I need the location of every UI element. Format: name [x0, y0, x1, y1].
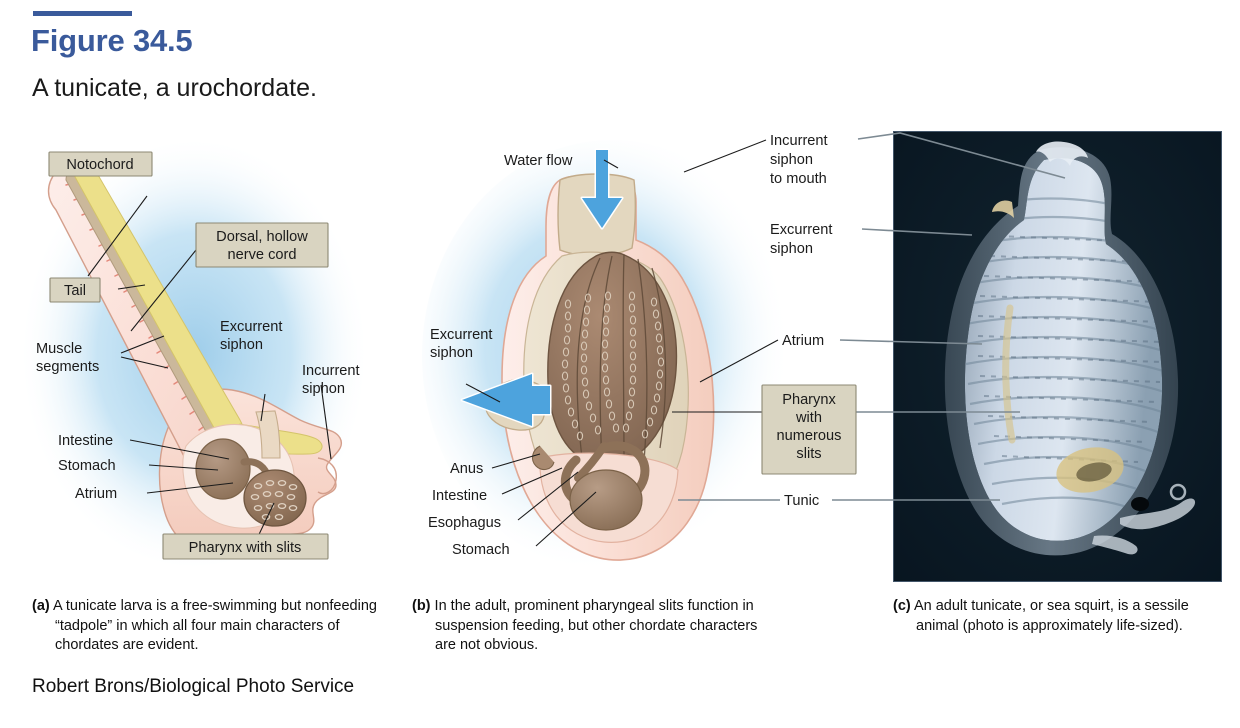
label-excurrent-siphon-b-line2: siphon [430, 345, 473, 361]
stomach-organ [570, 470, 642, 530]
caption-a: (a) A tunicate larva is a free-swimming … [32, 597, 387, 656]
figure-number: Figure 34.5 [31, 23, 192, 59]
label-excurrent-siphon-a-line1: Excurrent [220, 319, 282, 335]
label-nerve-cord-line2: nerve cord [228, 247, 297, 263]
label-box-notochord[interactable]: Notochord [49, 152, 152, 176]
caption-c: (c) An adult tunicate, or sea squirt, is… [893, 597, 1223, 636]
caption-c-key: (c) [893, 598, 911, 614]
label-pharynx-slits-text: Pharynx with slits [189, 540, 302, 556]
label-box-tail[interactable]: Tail [50, 278, 100, 302]
caption-b-key: (b) [412, 598, 431, 614]
caption-c-text: An adult tunicate, or sea squirt, is a s… [914, 598, 1189, 634]
panel-a-larva-diagram: Notochord Dorsal, hollow nerve cord Tail… [18, 128, 408, 580]
label-muscle-segments-line2: segments [36, 359, 99, 375]
photo-dark-spot [1131, 497, 1149, 511]
label-incurrent-siphon-a-line2: siphon [302, 381, 345, 397]
photo-credit: Robert Brons/Biological Photo Service [32, 676, 354, 698]
tunicate-photograph [893, 131, 1222, 582]
label-intestine-a[interactable]: Intestine [58, 433, 113, 449]
label-muscle-segments-line1: Muscle [36, 341, 82, 357]
label-incurrent-siphon-a-line1: Incurrent [302, 363, 360, 379]
caption-a-text: A tunicate larva is a free-swimming but … [53, 598, 377, 653]
pharynx-basket [548, 252, 677, 466]
label-esophagus[interactable]: Esophagus [428, 515, 501, 531]
caption-b-text: In the adult, prominent pharyngeal slits… [435, 598, 758, 653]
label-excurrent-siphon-a-line2: siphon [220, 337, 263, 353]
figure-title: A tunicate, a urochordate. [32, 74, 317, 103]
caption-b: (b) In the adult, prominent pharyngeal s… [412, 597, 772, 656]
label-notochord-text: Notochord [66, 157, 133, 173]
label-excurrent-siphon-b-line1: Excurrent [430, 327, 492, 343]
label-water-flow[interactable]: Water flow [504, 153, 573, 169]
label-box-pharynx-with-slits[interactable]: Pharynx with slits [163, 534, 328, 559]
label-anus[interactable]: Anus [450, 461, 483, 477]
label-tail-text: Tail [64, 283, 86, 299]
label-atrium-a[interactable]: Atrium [75, 486, 117, 502]
panel-b-adult-diagram: Water flow Excurrent siphon Anus Intesti… [400, 128, 890, 580]
label-stomach-b[interactable]: Stomach [452, 542, 510, 558]
caption-a-key: (a) [32, 598, 50, 614]
pharynx-organ [244, 470, 306, 526]
panel-c-photo [893, 131, 1222, 582]
label-nerve-cord-line1: Dorsal, hollow [216, 229, 308, 245]
label-stomach-a[interactable]: Stomach [58, 458, 116, 474]
label-box-dorsal-nerve-cord[interactable]: Dorsal, hollow nerve cord [196, 223, 328, 267]
label-intestine-b[interactable]: Intestine [432, 488, 487, 504]
figure-rule [33, 11, 132, 16]
